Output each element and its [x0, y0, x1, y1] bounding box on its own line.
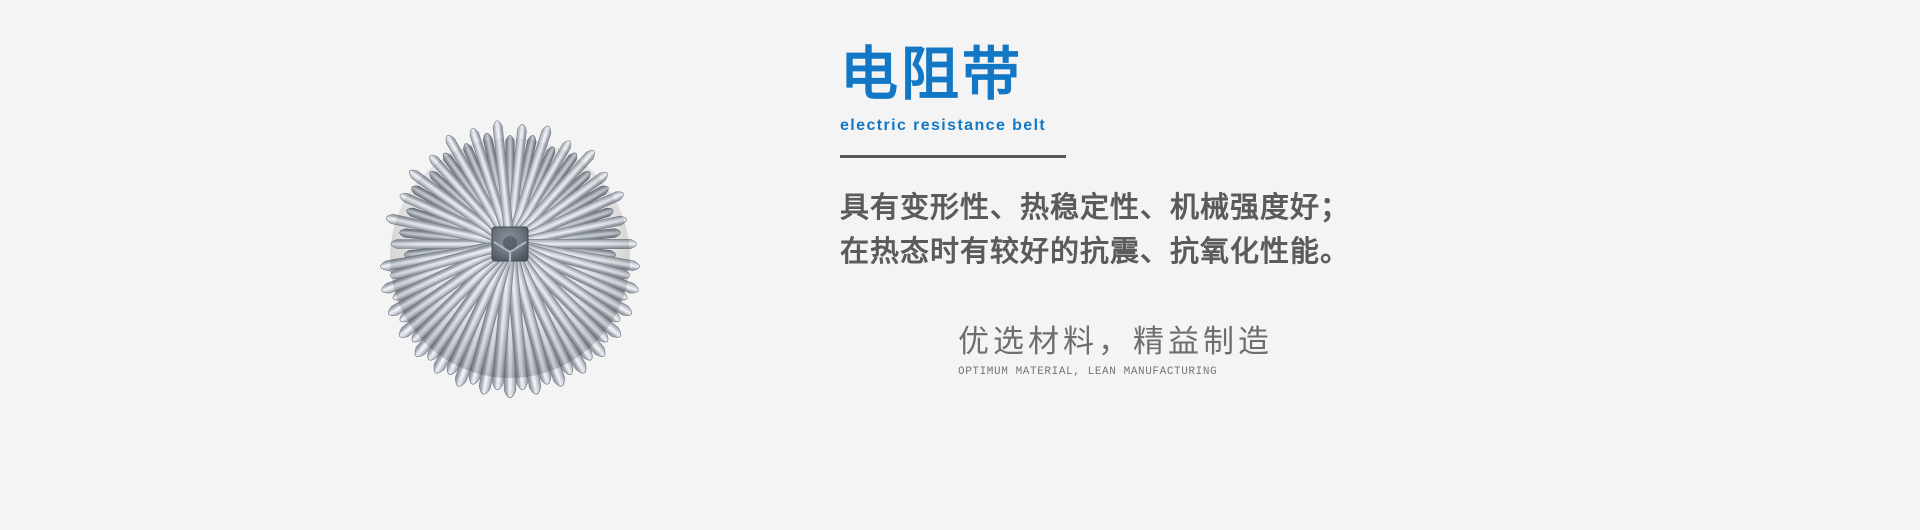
tagline-chinese: 优选材料，精益制造: [958, 322, 1378, 362]
page-subtitle: electric resistance belt: [840, 116, 1460, 136]
product-image: [300, 48, 720, 468]
description-line: 具有变形性、热稳定性、机械强度好；: [840, 186, 1540, 230]
description-line: 在热态时有较好的抗震、抗氧化性能。: [840, 230, 1540, 274]
title-divider: [840, 155, 1066, 158]
text-column: 电阻带 electric resistance belt 具有变形性、热稳定性、…: [840, 0, 1840, 530]
page-title: 电阻带: [840, 44, 1460, 106]
tagline-block: 优选材料，精益制造 OPTIMUM MATERIAL, LEAN MANUFAC…: [958, 322, 1378, 379]
description-block: 具有变形性、热稳定性、机械强度好； 在热态时有较好的抗震、抗氧化性能。: [840, 186, 1540, 274]
headline-block: 电阻带 electric resistance belt: [840, 44, 1460, 158]
product-banner: 电阻带 electric resistance belt 具有变形性、热稳定性、…: [0, 0, 1920, 530]
tagline-english: OPTIMUM MATERIAL, LEAN MANUFACTURING: [958, 365, 1378, 379]
